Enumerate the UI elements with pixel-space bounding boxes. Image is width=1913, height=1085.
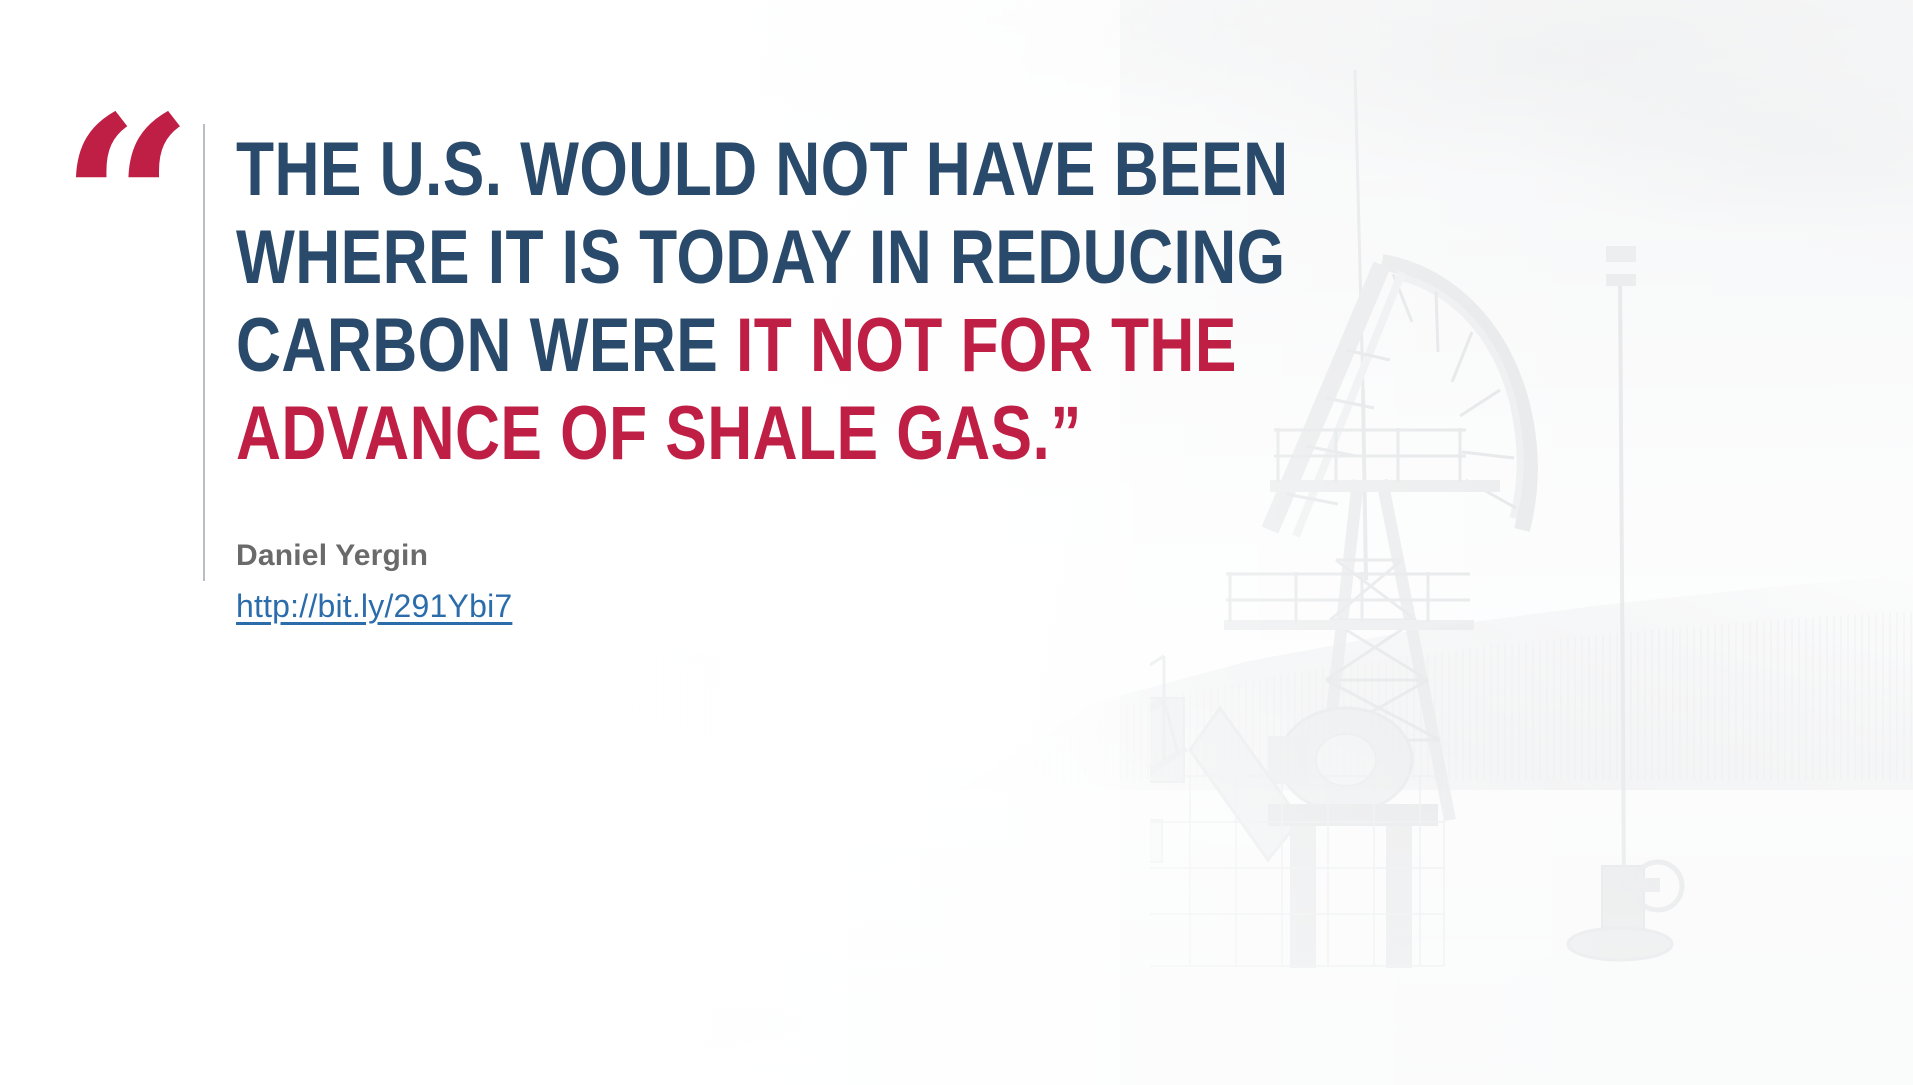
card-content: “ THE U.S. WOULD NOT HAVE BEEN WHERE IT … <box>0 0 1913 1085</box>
quote-line-1-navy: THE U.S. WOULD NOT HAVE BEEN <box>236 127 1288 212</box>
quote-line-3-red: IT NOT FOR THE <box>736 303 1237 388</box>
quote-card: “ THE U.S. WOULD NOT HAVE BEEN WHERE IT … <box>0 0 1913 1085</box>
quote-line-3: CARBON WERE IT NOT FOR THE <box>236 302 1105 390</box>
quote-author: Daniel Yergin <box>236 537 428 575</box>
source-link[interactable]: http://bit.ly/291Ybi7 <box>236 586 512 626</box>
quote-text: THE U.S. WOULD NOT HAVE BEEN WHERE IT IS… <box>236 126 1296 478</box>
quote-line-3-navy: CARBON WERE <box>236 303 736 388</box>
quote-line-4-red: ADVANCE OF SHALE GAS.” <box>236 391 1082 476</box>
quote-line-1: THE U.S. WOULD NOT HAVE BEEN <box>236 126 1105 214</box>
vertical-divider <box>203 124 205 581</box>
quote-line-2: WHERE IT IS TODAY IN REDUCING <box>236 214 1105 302</box>
quote-line-2-navy: WHERE IT IS TODAY IN REDUCING <box>236 215 1286 300</box>
quote-line-4: ADVANCE OF SHALE GAS.” <box>236 390 1105 478</box>
open-quote-icon: “ <box>60 86 189 318</box>
